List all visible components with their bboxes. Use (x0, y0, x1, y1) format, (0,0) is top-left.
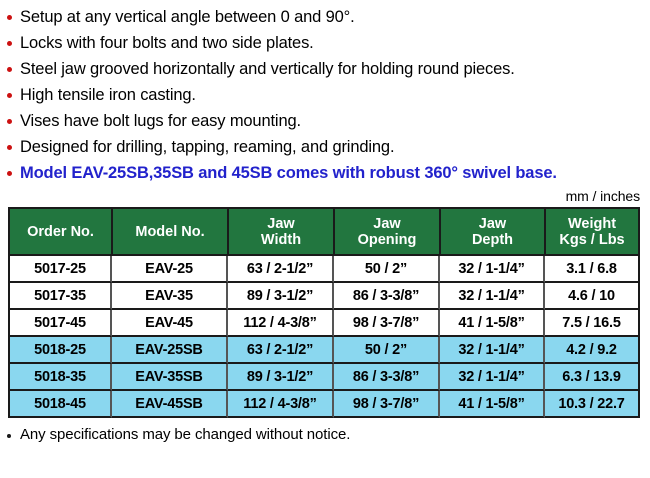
table-cell: 7.5 / 16.5 (545, 310, 640, 337)
table-column-header-line1: Order No. (12, 224, 109, 240)
feature-item-label: Locks with four bolts and two side plate… (20, 34, 314, 52)
units-caption: mm / inches (0, 183, 650, 207)
table-cell: 5017-35 (8, 283, 112, 310)
table-column-header: Order No. (8, 207, 112, 256)
bullet-icon (7, 171, 12, 176)
table-cell: 4.2 / 9.2 (545, 337, 640, 364)
table-cell: 41 / 1-5/8” (440, 391, 545, 418)
bullet-icon (7, 434, 11, 438)
table-cell: 5017-45 (8, 310, 112, 337)
table-column-header: WeightKgs / Lbs (545, 207, 640, 256)
specifications-table: Order No.Model No.JawWidthJawOpeningJawD… (8, 207, 640, 418)
feature-item-label: Setup at any vertical angle between 0 an… (20, 8, 355, 26)
table-header-row: Order No.Model No.JawWidthJawOpeningJawD… (8, 207, 640, 256)
table-cell: 6.3 / 13.9 (545, 364, 640, 391)
table-column-header: Model No. (112, 207, 228, 256)
table-column-header-line2: Width (231, 232, 331, 248)
table-cell: 86 / 3-3/8” (334, 283, 440, 310)
table-cell: 63 / 2-1/2” (228, 256, 334, 283)
feature-item: Designed for drilling, tapping, reaming,… (0, 137, 650, 157)
table-cell: 10.3 / 22.7 (545, 391, 640, 418)
feature-item-label: High tensile iron casting. (20, 86, 196, 104)
table-cell: EAV-45SB (112, 391, 228, 418)
table-cell: 5018-35 (8, 364, 112, 391)
bullet-icon (7, 119, 12, 124)
table-cell: 5018-45 (8, 391, 112, 418)
table-cell: 89 / 3-1/2” (228, 364, 334, 391)
table-column-header: JawOpening (334, 207, 440, 256)
bullet-icon (7, 145, 12, 150)
table-column-header: JawDepth (440, 207, 545, 256)
table-cell: 98 / 3-7/8” (334, 310, 440, 337)
table-cell: EAV-25SB (112, 337, 228, 364)
table-cell: 112 / 4-3/8” (228, 310, 334, 337)
table-cell: 4.6 / 10 (545, 283, 640, 310)
table-column-header-line1: Model No. (115, 224, 225, 240)
table-column-header-line2: Opening (337, 232, 437, 248)
table-cell: 32 / 1-1/4” (440, 283, 545, 310)
table-cell: 32 / 1-1/4” (440, 364, 545, 391)
table-cell: EAV-35 (112, 283, 228, 310)
spec-table-container: Order No.Model No.JawWidthJawOpeningJawD… (0, 207, 650, 418)
bullet-icon (7, 15, 12, 20)
feature-item-label: Designed for drilling, tapping, reaming,… (20, 138, 394, 156)
table-cell: EAV-35SB (112, 364, 228, 391)
table-column-header-line1: Jaw (443, 216, 542, 232)
table-cell: 112 / 4-3/8” (228, 391, 334, 418)
table-cell: 5018-25 (8, 337, 112, 364)
table-header: Order No.Model No.JawWidthJawOpeningJawD… (8, 207, 640, 256)
feature-list: Setup at any vertical angle between 0 an… (0, 0, 650, 183)
table-column-header-line2: Depth (443, 232, 542, 248)
table-row: 5018-35EAV-35SB89 / 3-1/2”86 / 3-3/8”32 … (8, 364, 640, 391)
table-column-header-line1: Weight (548, 216, 636, 232)
table-body: 5017-25EAV-2563 / 2-1/2”50 / 2”32 / 1-1/… (8, 256, 640, 418)
table-cell: EAV-45 (112, 310, 228, 337)
table-cell: 32 / 1-1/4” (440, 256, 545, 283)
feature-item-label: Steel jaw grooved horizontally and verti… (20, 60, 515, 78)
table-cell: EAV-25 (112, 256, 228, 283)
feature-item: Setup at any vertical angle between 0 an… (0, 7, 650, 27)
table-row: 5017-45EAV-45112 / 4-3/8”98 / 3-7/8”41 /… (8, 310, 640, 337)
bullet-icon (7, 41, 12, 46)
table-row: 5017-25EAV-2563 / 2-1/2”50 / 2”32 / 1-1/… (8, 256, 640, 283)
table-cell: 50 / 2” (334, 337, 440, 364)
feature-item-label: Vises have bolt lugs for easy mounting. (20, 112, 301, 130)
table-cell: 32 / 1-1/4” (440, 337, 545, 364)
bullet-icon (7, 93, 12, 98)
table-column-header-line1: Jaw (231, 216, 331, 232)
table-cell: 63 / 2-1/2” (228, 337, 334, 364)
feature-item: Locks with four bolts and two side plate… (0, 33, 650, 53)
table-cell: 5017-25 (8, 256, 112, 283)
feature-item: Model EAV-25SB,35SB and 45SB comes with … (0, 163, 650, 183)
feature-item-label: Model EAV-25SB,35SB and 45SB comes with … (20, 164, 557, 182)
table-cell: 86 / 3-3/8” (334, 364, 440, 391)
table-row: 5017-35EAV-3589 / 3-1/2”86 / 3-3/8”32 / … (8, 283, 640, 310)
table-cell: 98 / 3-7/8” (334, 391, 440, 418)
table-row: 5018-45EAV-45SB112 / 4-3/8”98 / 3-7/8”41… (8, 391, 640, 418)
bullet-icon (7, 67, 12, 72)
feature-item: Steel jaw grooved horizontally and verti… (0, 59, 650, 79)
feature-item: Vises have bolt lugs for easy mounting. (0, 111, 650, 131)
table-cell: 50 / 2” (334, 256, 440, 283)
table-row: 5018-25EAV-25SB63 / 2-1/2”50 / 2”32 / 1-… (8, 337, 640, 364)
feature-item: High tensile iron casting. (0, 85, 650, 105)
footer-disclaimer-text: Any specifications may be changed withou… (20, 426, 350, 443)
table-cell: 41 / 1-5/8” (440, 310, 545, 337)
table-column-header: JawWidth (228, 207, 334, 256)
table-column-header-line2: Kgs / Lbs (548, 232, 636, 248)
table-column-header-line1: Jaw (337, 216, 437, 232)
table-cell: 3.1 / 6.8 (545, 256, 640, 283)
footer-disclaimer: Any specifications may be changed withou… (0, 418, 650, 443)
table-cell: 89 / 3-1/2” (228, 283, 334, 310)
